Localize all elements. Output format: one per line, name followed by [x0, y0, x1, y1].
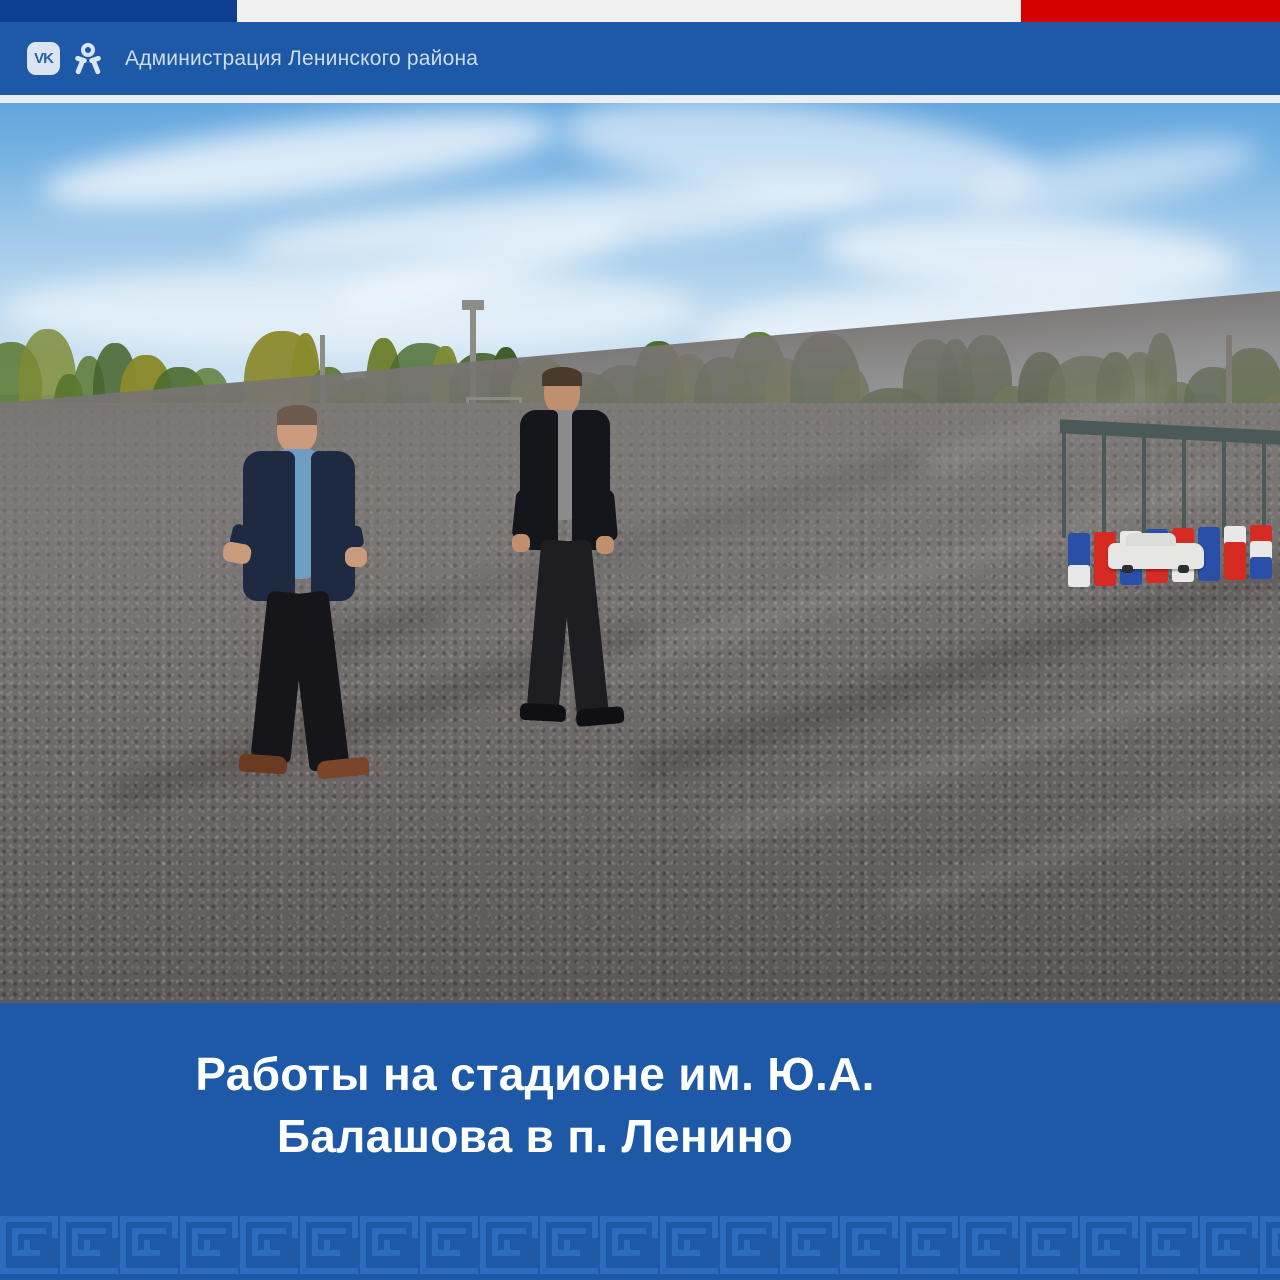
greek-key-unit: [1140, 1216, 1198, 1274]
russian-tricolor-strip: [0, 0, 1280, 22]
caption-line-1: Работы на стадионе им. Ю.А.: [195, 1048, 874, 1100]
person1-hair: [277, 405, 317, 425]
odnoklassniki-logo-icon[interactable]: [74, 42, 102, 75]
canopy-post: [1262, 433, 1266, 538]
greek-key-unit: [480, 1216, 538, 1274]
caption-line-2: Балашова в п. Ленино: [277, 1110, 793, 1162]
greek-key-unit: [360, 1216, 418, 1274]
car-wheel: [1178, 565, 1189, 573]
person2-hand-left: [512, 534, 530, 552]
person-in-black-jacket: [510, 370, 625, 760]
stadium-seat: [1068, 565, 1090, 587]
ok-head-shape: [81, 43, 95, 57]
account-name-label: Администрация Ленинского района: [125, 47, 478, 71]
person2-hand-right: [596, 536, 614, 554]
stadium-seat: [1250, 557, 1272, 579]
greek-key-unit: [1020, 1216, 1078, 1274]
person-in-navy-jacket: [225, 407, 370, 817]
greek-key-pattern: [0, 1210, 1280, 1280]
canopy-post: [1062, 433, 1066, 538]
stadium-seat: [1224, 558, 1246, 580]
stadium-photograph: [0, 95, 1280, 1003]
person1-jacket-left: [243, 451, 295, 601]
car-wheel: [1122, 565, 1133, 573]
person2-shoe-right: [575, 706, 624, 727]
floodlight-head: [462, 300, 484, 310]
person1-shoe-right: [316, 756, 370, 779]
greek-key-unit: [1080, 1216, 1138, 1274]
social-header-bar: VK Администрация Ленинского района: [0, 22, 1280, 95]
greek-key-unit: [1260, 1216, 1280, 1274]
canopy-post: [1182, 433, 1186, 538]
caption-panel: Работы на стадионе им. Ю.А. Балашова в п…: [0, 1003, 1280, 1280]
ok-leg-left-shape: [75, 60, 85, 75]
ok-leg-right-shape: [91, 60, 101, 75]
parked-car-roof: [1126, 533, 1176, 546]
person2-leg-right: [559, 539, 609, 719]
greek-key-unit: [300, 1216, 358, 1274]
greek-key-unit: [960, 1216, 1018, 1274]
asphalt-streak: [887, 772, 1280, 912]
greek-key-unit: [180, 1216, 238, 1274]
greek-key-unit: [0, 1216, 58, 1274]
tricolor-blue-segment: [0, 0, 237, 22]
person2-arm-right: [592, 489, 618, 543]
canopy-post: [1142, 433, 1146, 538]
greek-key-unit: [600, 1216, 658, 1274]
greek-key-unit: [780, 1216, 838, 1274]
greek-key-unit: [240, 1216, 298, 1274]
person1-shoe-left: [238, 753, 287, 774]
greek-key-unit: [660, 1216, 718, 1274]
photo-top-edge: [0, 95, 1280, 103]
person2-shoe-left: [520, 703, 567, 722]
social-media-post-card: VK Администрация Ленинского района: [0, 0, 1280, 1280]
post-caption-text: Работы на стадионе им. Ю.А. Балашова в п…: [30, 1043, 1040, 1167]
tricolor-red-segment: [1021, 0, 1280, 22]
greek-key-unit: [120, 1216, 178, 1274]
vk-logo-icon[interactable]: VK: [27, 42, 60, 75]
greek-key-unit: [720, 1216, 778, 1274]
canopy-post: [1222, 433, 1226, 538]
person2-hair: [542, 367, 582, 386]
person1-hand-right: [345, 547, 367, 567]
greek-key-unit: [60, 1216, 118, 1274]
greek-key-unit: [1200, 1216, 1258, 1274]
canopy-post: [1102, 433, 1106, 538]
greek-key-unit: [840, 1216, 898, 1274]
greek-key-unit: [540, 1216, 598, 1274]
greek-key-unit: [900, 1216, 958, 1274]
cloud: [958, 124, 1263, 230]
greek-key-unit: [420, 1216, 478, 1274]
tricolor-white-segment: [237, 0, 1021, 22]
